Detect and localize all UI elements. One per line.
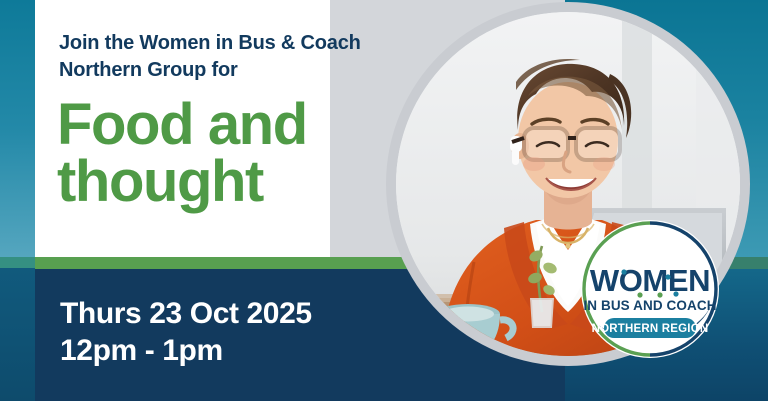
- headline-line-2: thought: [57, 154, 387, 211]
- page-title: Food and thought: [57, 97, 387, 211]
- event-banner: Join the Women in Bus & Coach Northern G…: [0, 0, 768, 401]
- left-accent-strip-top: [0, 0, 35, 258]
- headline-line-1: Food and: [57, 97, 387, 154]
- logo-subtitle: IN BUS AND COACH: [583, 298, 716, 313]
- kicker-line-1: Join the Women in Bus & Coach: [59, 32, 361, 54]
- left-accent-strip-bottom: [0, 268, 35, 401]
- kicker-text: Join the Women in Bus & Coach Northern G…: [59, 30, 429, 83]
- event-datetime: Thurs 23 Oct 2025 12pm - 1pm: [60, 296, 390, 370]
- logo-region-label: NORTHERN REGION: [592, 323, 709, 335]
- kicker-line-2: Northern Group for: [59, 59, 238, 81]
- logo-svg: WOMEN IN BUS AND COACH NORTHERN REGION: [580, 219, 720, 359]
- event-time: 12pm - 1pm: [60, 333, 390, 370]
- event-date: Thurs 23 Oct 2025: [60, 296, 390, 333]
- women-in-bus-and-coach-logo: WOMEN IN BUS AND COACH NORTHERN REGION: [580, 219, 720, 359]
- logo-wordmark: WOMEN: [590, 263, 710, 298]
